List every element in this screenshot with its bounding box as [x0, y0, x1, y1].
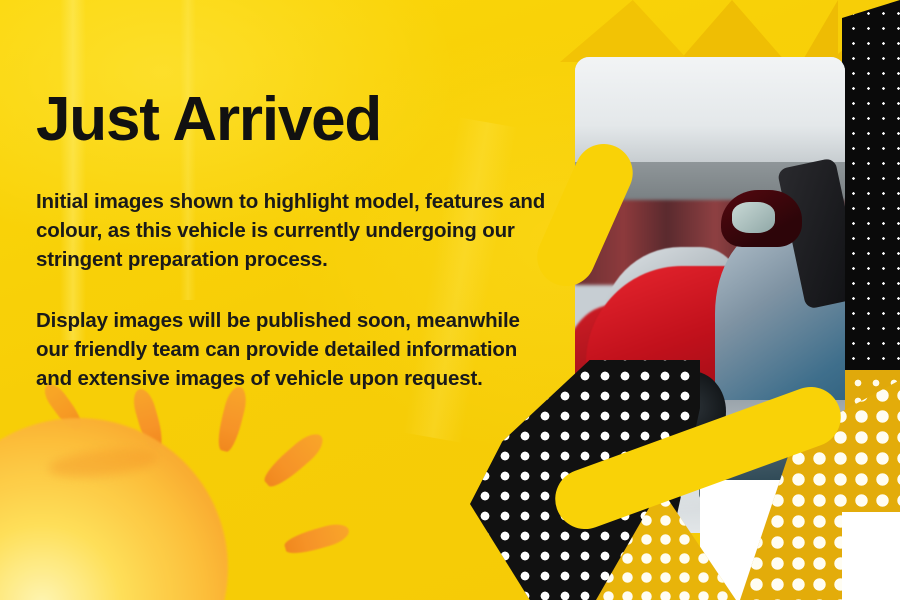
copy-block: Just Arrived Initial images shown to hig… — [36, 88, 556, 393]
just-arrived-banner: Just Arrived Initial images shown to hig… — [0, 0, 900, 600]
photo-mirror-glass — [732, 202, 775, 233]
black-polka-dot-shape — [842, 0, 900, 392]
white-notch — [842, 512, 900, 600]
page-title: Just Arrived — [36, 88, 556, 151]
body-paragraph-1: Initial images shown to highlight model,… — [36, 187, 546, 274]
body-paragraph-2: Display images will be published soon, m… — [36, 306, 552, 393]
